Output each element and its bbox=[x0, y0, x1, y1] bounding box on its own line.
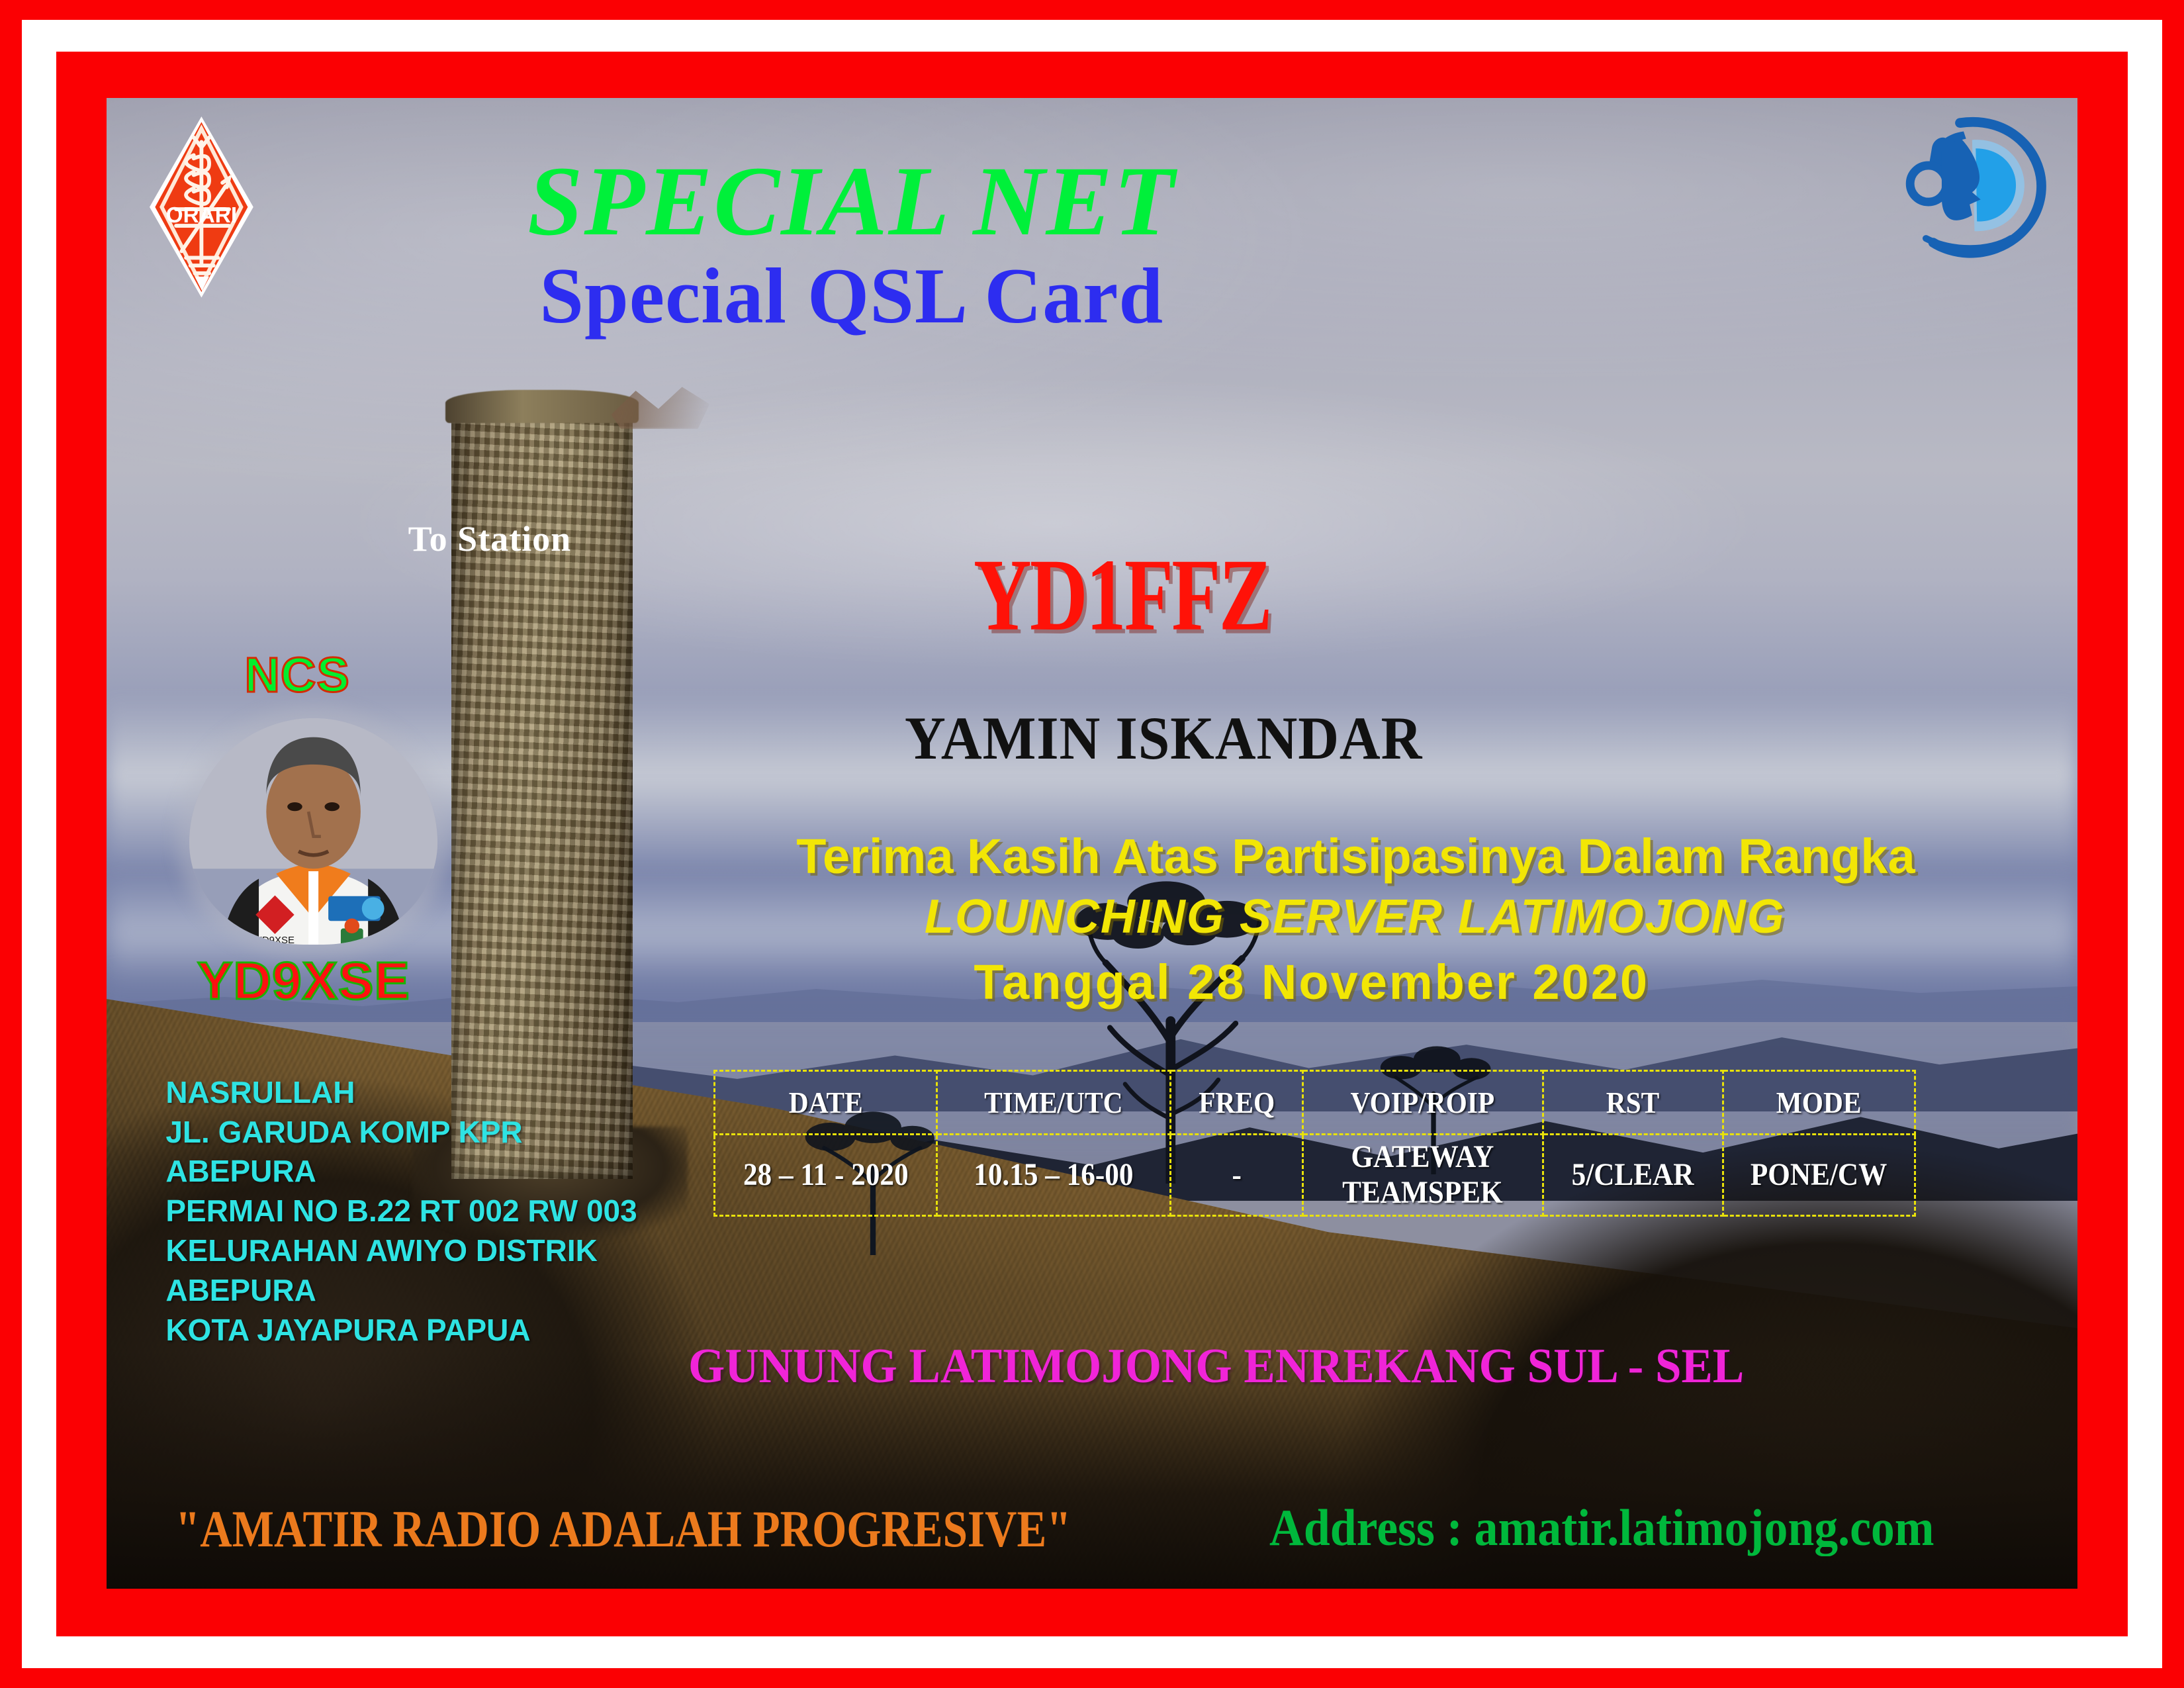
column-header-rst: RST bbox=[1552, 1071, 1714, 1135]
ncs-label: NCS bbox=[244, 647, 349, 703]
card-white-border: ORARI SP bbox=[22, 20, 2162, 1668]
page-title-special-net: SPECIAL NET bbox=[280, 152, 1423, 251]
page-subtitle-special-qsl-card: Special QSL Card bbox=[280, 256, 1423, 336]
address-line: ABEPURA bbox=[165, 1152, 637, 1192]
cell-date: 28 – 11 - 2020 bbox=[725, 1135, 925, 1216]
ncs-postal-address: NASRULLAH JL. GARUDA KOMP KPR ABEPURA PE… bbox=[165, 1073, 637, 1350]
to-station-label: To Station bbox=[408, 518, 572, 559]
cell-voip-line-1: GATEWAY bbox=[1318, 1139, 1527, 1175]
address-line: ABEPURA bbox=[165, 1271, 637, 1311]
ncs-callsign: YD9XSE bbox=[197, 951, 410, 1011]
qsl-card: ORARI SP bbox=[0, 0, 2184, 1688]
cell-voip-line-2: TEAMSPEK bbox=[1318, 1175, 1527, 1211]
station-callsign: YD1FFZ bbox=[974, 535, 1271, 655]
column-header-mode: MODE bbox=[1733, 1071, 1905, 1135]
column-header-time-utc: TIME/UTC bbox=[948, 1071, 1159, 1135]
address-line: KELURAHAN AWIYO DISTRIK bbox=[165, 1231, 637, 1271]
card-background-photo: ORARI SP bbox=[107, 98, 2077, 1589]
thanks-line-1: Terima Kasih Atas Partisipasinya Dalam R… bbox=[796, 828, 1915, 884]
location-caption: GUNUNG LATIMOJONG ENREKANG SUL - SEL bbox=[688, 1338, 1744, 1395]
cell-freq: - bbox=[1177, 1135, 1297, 1216]
radio-net-headset-logo bbox=[1904, 113, 2050, 259]
orari-logo: ORARI bbox=[146, 113, 257, 301]
column-header-freq: FREQ bbox=[1177, 1071, 1297, 1135]
footer-web-address: Address : amatir.latimojong.com bbox=[1269, 1498, 1934, 1558]
address-line: JL. GARUDA KOMP KPR bbox=[165, 1113, 637, 1152]
address-line: KOTA JAYAPURA PAPUA bbox=[165, 1311, 637, 1350]
thanks-line-2: LOUNCHING SERVER LATIMOJONG bbox=[925, 890, 1786, 944]
svg-text:YD9XSE: YD9XSE bbox=[255, 935, 295, 945]
address-line: NASRULLAH bbox=[165, 1073, 637, 1113]
address-line: PERMAI NO B.22 RT 002 RW 003 bbox=[165, 1192, 637, 1231]
cell-voip-roip: GATEWAY TEAMSPEK bbox=[1314, 1135, 1530, 1216]
column-header-voip-roip: VOIP/ROIP bbox=[1314, 1071, 1530, 1135]
cell-mode: PONE/CW bbox=[1733, 1135, 1905, 1216]
table-row: 28 – 11 - 2020 10.15 – 16-00 - GATEWAY T… bbox=[715, 1135, 1915, 1216]
cell-time-utc: 10.15 – 16-00 bbox=[948, 1135, 1159, 1216]
orari-logo-text: ORARI bbox=[165, 203, 236, 228]
footer-slogan: "AMATIR RADIO ADALAH PROGRESIVE" bbox=[175, 1499, 1071, 1559]
ncs-operator-photo: YD9XSE bbox=[189, 718, 437, 945]
cairn-cap bbox=[445, 390, 639, 423]
operator-name: YAMIN ISKANDAR bbox=[905, 703, 1422, 773]
card-inner-red-border: ORARI SP bbox=[56, 52, 2128, 1636]
thanks-line-3: Tanggal 28 November 2020 bbox=[974, 954, 1649, 1010]
qso-details-table: DATE TIME/UTC FREQ VOIP/ROIP RST MODE 28… bbox=[713, 1070, 1916, 1217]
column-header-date: DATE bbox=[725, 1071, 925, 1135]
cell-rst: 5/CLEAR bbox=[1552, 1135, 1714, 1216]
table-header-row: DATE TIME/UTC FREQ VOIP/ROIP RST MODE bbox=[715, 1071, 1915, 1135]
